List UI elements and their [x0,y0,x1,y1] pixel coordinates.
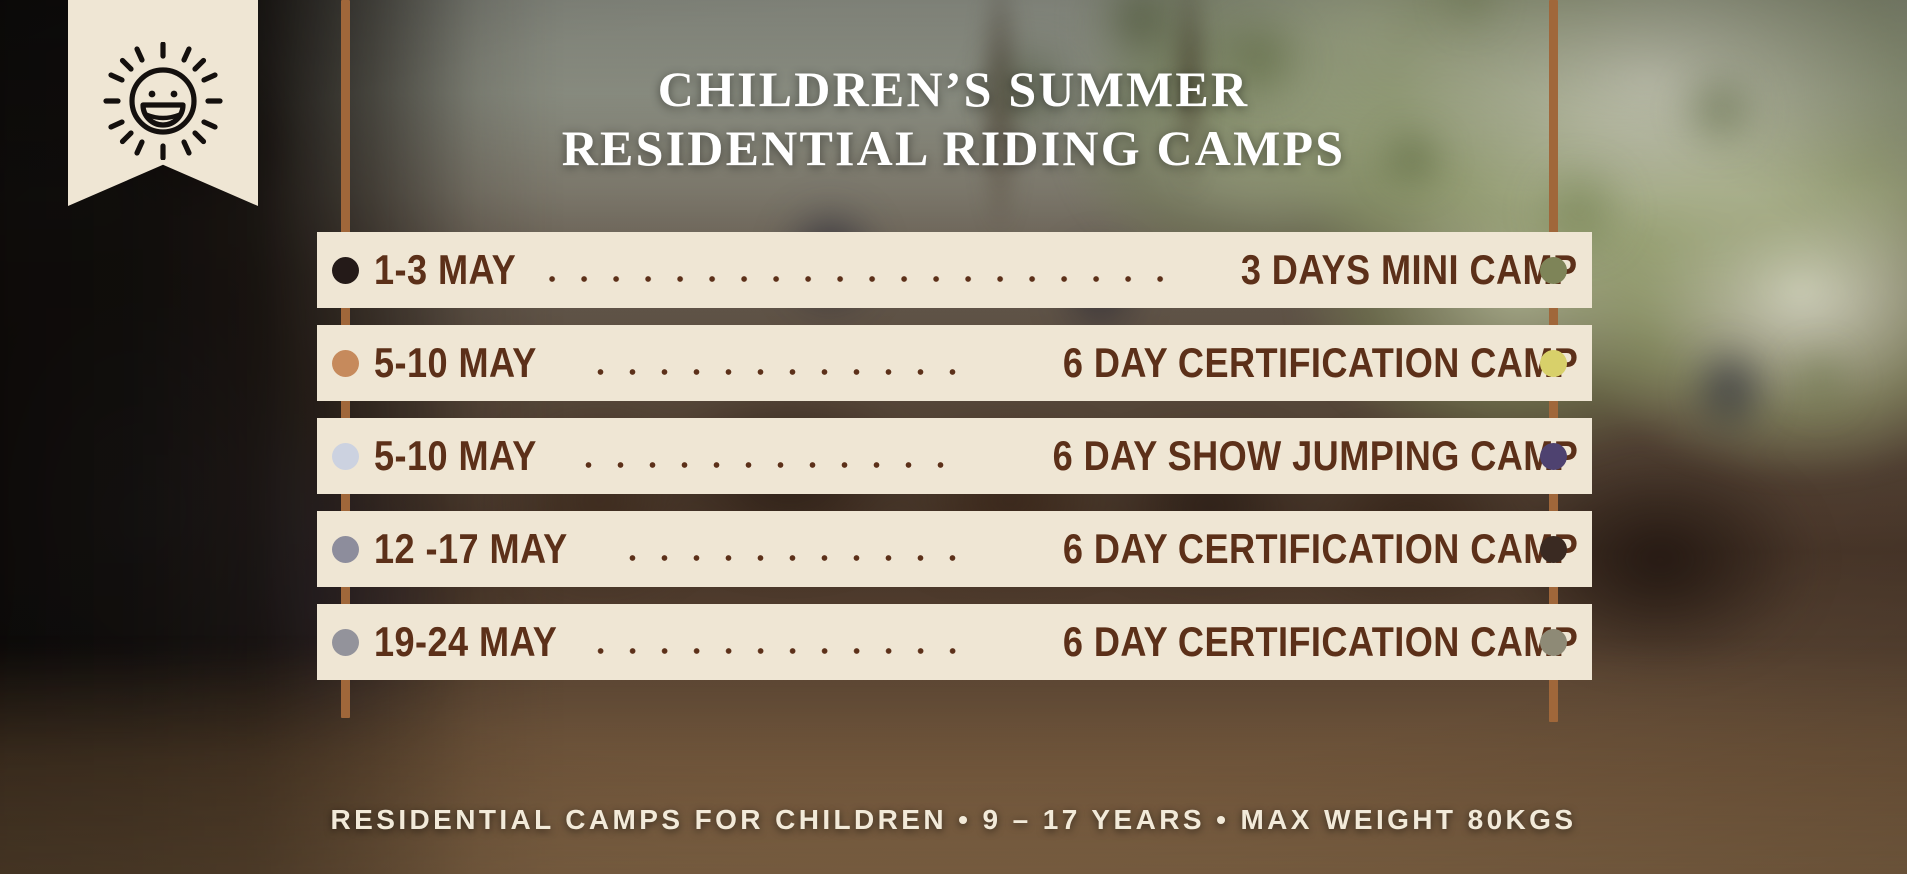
timeline-dot-right [1540,257,1567,284]
schedule-row[interactable]: 1-3 MAY3 DAYS MINI CAMP [317,232,1592,308]
schedule-list: 1-3 MAY3 DAYS MINI CAMP5-10 MAY6 DAY CER… [317,232,1592,697]
schedule-row-camp: 6 DAY CERTIFICATION CAMP [1063,528,1578,570]
schedule-row-camp: 6 DAY CERTIFICATION CAMP [1063,342,1578,384]
schedule-row-camp: 6 DAY CERTIFICATION CAMP [1063,621,1578,663]
schedule-row-dot-leader [597,621,969,663]
title-line-1: CHILDREN’S SUMMER [0,60,1907,119]
timeline-dot-left [332,257,359,284]
page-title: CHILDREN’S SUMMER RESIDENTIAL RIDING CAM… [0,60,1907,178]
timeline-dot-left [332,536,359,563]
schedule-row-dates: 19-24 MAY [374,621,557,663]
timeline-dot-left [332,629,359,656]
schedule-row-dot-leader [573,435,957,477]
title-line-2: RESIDENTIAL RIDING CAMPS [0,119,1907,178]
timeline-dot-left [332,350,359,377]
schedule-row[interactable]: 5-10 MAY6 DAY SHOW JUMPING CAMP [317,418,1592,494]
schedule-row-dates: 5-10 MAY [374,435,537,477]
schedule-row-dates: 12 -17 MAY [374,528,568,570]
schedule-row[interactable]: 5-10 MAY6 DAY CERTIFICATION CAMP [317,325,1592,401]
schedule-row-dates: 1-3 MAY [374,249,516,291]
schedule-row-camp: 3 DAYS MINI CAMP [1241,249,1578,291]
footer-caption: RESIDENTIAL CAMPS FOR CHILDREN • 9 – 17 … [0,804,1907,836]
timeline-dot-right [1540,443,1567,470]
timeline-dot-right [1540,629,1567,656]
schedule-row[interactable]: 12 -17 MAY6 DAY CERTIFICATION CAMP [317,511,1592,587]
schedule-row-dot-leader [549,249,1176,291]
schedule-row-dates: 5-10 MAY [374,342,537,384]
poster-canvas: CHILDREN’S SUMMER RESIDENTIAL RIDING CAM… [0,0,1907,874]
schedule-row-dot-leader [573,342,968,384]
timeline-dot-left [332,443,359,470]
timeline-dot-right [1540,350,1567,377]
timeline-dot-right [1540,536,1567,563]
schedule-row-camp: 6 DAY SHOW JUMPING CAMP [1052,435,1578,477]
schedule-row[interactable]: 19-24 MAY6 DAY CERTIFICATION CAMP [317,604,1592,680]
schedule-row-dot-leader [609,528,968,570]
